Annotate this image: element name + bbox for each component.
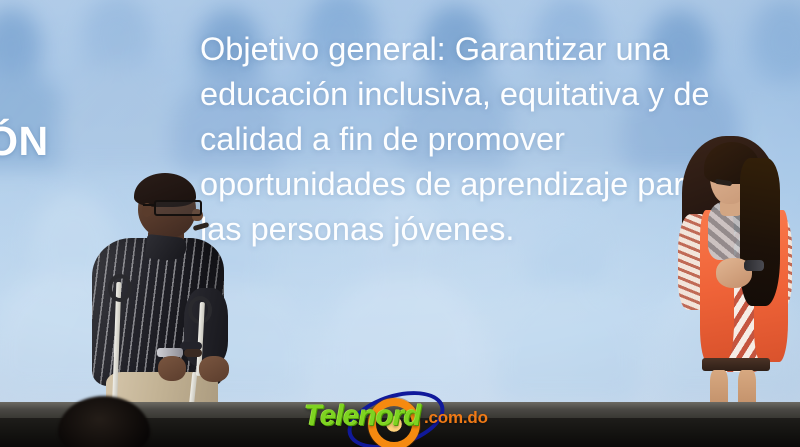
- woman-dress-hem: [702, 358, 770, 371]
- logo-wordmark: Telenord: [304, 400, 421, 433]
- slide-body-line-1: Objetivo general: Garantizar una: [200, 27, 760, 72]
- crutch-left-cuff: [108, 274, 132, 302]
- speaker-woman-presenter: [668, 136, 800, 418]
- telenord-logo: Telenord .com.do: [302, 392, 514, 440]
- man-bracelet: [184, 349, 202, 357]
- man-right-hand: [199, 356, 229, 382]
- man-left-hand: [158, 356, 186, 381]
- lapel-microphone-icon: [193, 222, 210, 231]
- speaker-man-with-crutches: [62, 176, 252, 418]
- video-frame: ACIÓN Objetivo general: Garantizar una e…: [0, 0, 800, 447]
- logo-tld: .com.do: [424, 408, 488, 428]
- slide-body-line-2: educación inclusiva, equitativa y de: [200, 72, 760, 117]
- woman-wristwatch: [744, 260, 764, 271]
- slide-heading: ACIÓN: [0, 118, 49, 165]
- eyeglasses-icon: [154, 200, 202, 216]
